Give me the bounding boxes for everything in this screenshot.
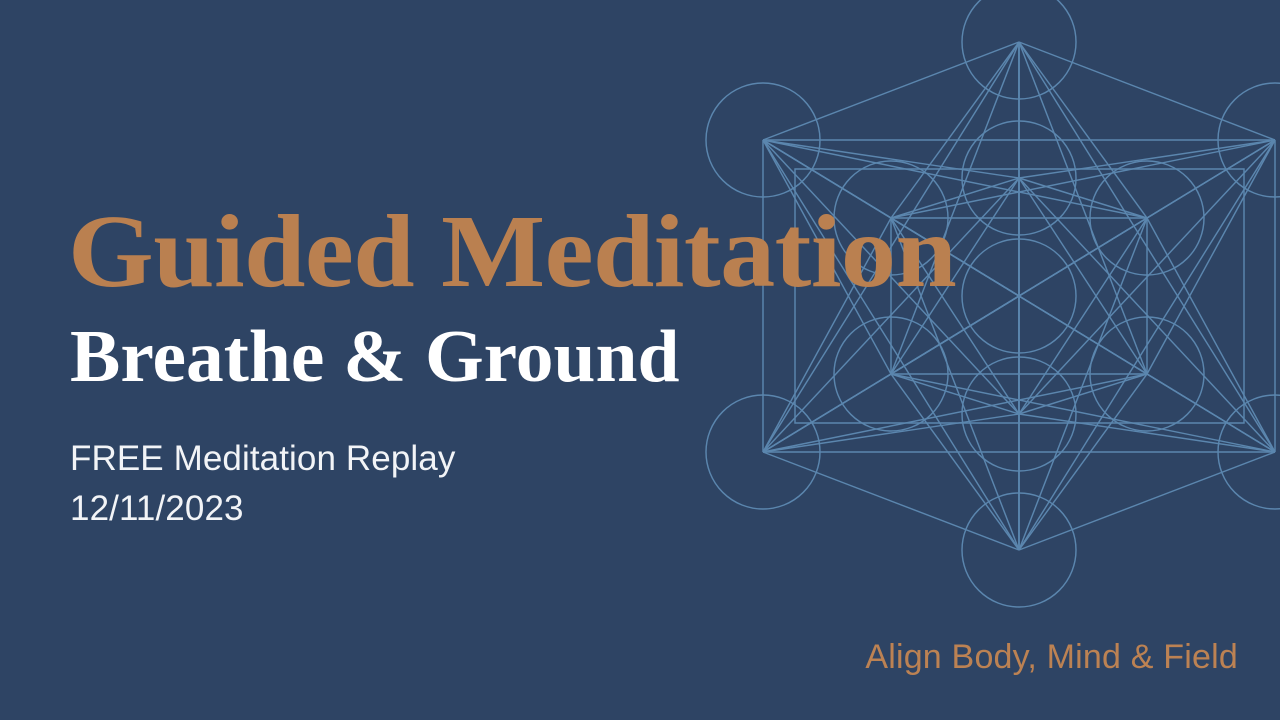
geometry-line-2-9 xyxy=(1147,218,1275,452)
geometry-line-2-10 xyxy=(1019,218,1147,550)
geometry-line-1-12 xyxy=(763,140,1019,178)
geometry-line-1-2 xyxy=(1019,178,1147,218)
geometry-circle-7 xyxy=(962,0,1076,99)
geometry-circle-10 xyxy=(962,493,1076,607)
geometry-line-0-8 xyxy=(1019,140,1275,296)
geometry-line-6-7 xyxy=(891,42,1019,218)
geometry-circle-8 xyxy=(1218,83,1280,197)
geometry-line-8-10 xyxy=(1019,140,1275,550)
geometry-line-7-12 xyxy=(763,42,1019,140)
geometry-line-4-8 xyxy=(1019,140,1275,414)
geometry-line-0-3 xyxy=(1019,296,1147,374)
geometry-line-1-3 xyxy=(1019,178,1147,374)
geometry-line-7-8 xyxy=(1019,42,1275,140)
geometry-line-2-7 xyxy=(1019,42,1147,218)
tagline: Align Body, Mind & Field xyxy=(865,637,1238,678)
geometry-circle-2 xyxy=(1090,161,1204,275)
page-subtitle: Breathe & Ground xyxy=(70,320,986,394)
geometry-circle-3 xyxy=(1090,317,1204,431)
geometry-line-0-2 xyxy=(1019,218,1147,296)
geometry-line-3-8 xyxy=(1147,140,1275,374)
geometry-line-1-9 xyxy=(1019,178,1275,452)
geometry-line-3-10 xyxy=(1019,374,1147,550)
geometry-line-3-9 xyxy=(1147,374,1275,452)
geometry-line-3-4 xyxy=(1019,374,1147,414)
page-title: Guided Meditation xyxy=(68,200,1022,304)
geometry-line-2-8 xyxy=(1147,140,1275,218)
event-type-label: FREE Meditation Replay xyxy=(70,434,968,484)
headline-block: Guided Meditation Breathe & Ground FREE … xyxy=(68,200,968,533)
geometry-line-0-9 xyxy=(1019,296,1275,452)
geometry-circle-9 xyxy=(1218,395,1280,509)
geometry-line-3-7 xyxy=(1019,42,1147,374)
geometry-line-1-8 xyxy=(1019,140,1275,178)
geometry-circle-12 xyxy=(706,83,820,197)
geometry-line-2-4 xyxy=(1019,218,1147,414)
event-details: FREE Meditation Replay 12/11/2023 xyxy=(70,434,968,533)
geometry-line-9-10 xyxy=(1019,452,1275,550)
geometry-line-4-9 xyxy=(1019,414,1275,452)
event-date-label: 12/11/2023 xyxy=(70,484,968,534)
slide-canvas: Guided Meditation Breathe & Ground FREE … xyxy=(0,0,1280,720)
geometry-line-7-9 xyxy=(1019,42,1275,452)
